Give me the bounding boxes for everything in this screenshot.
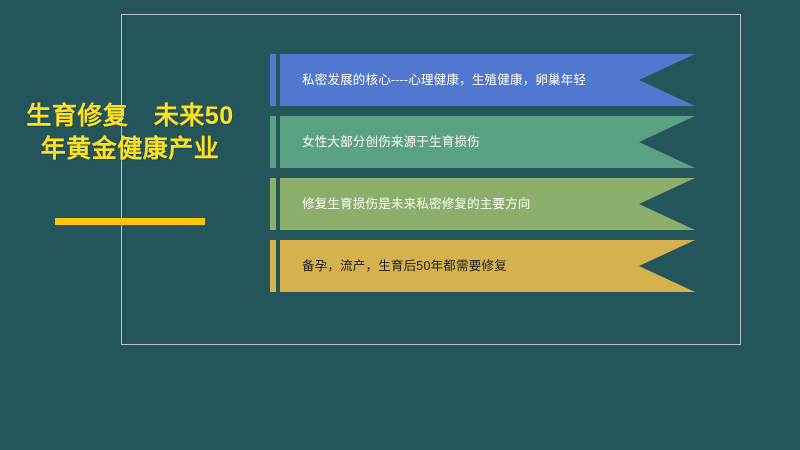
banner-body: 女性大部分创伤来源于生育损伤 [280, 116, 695, 168]
banner-body: 私密发展的核心----心理健康，生殖健康，卵巢年轻 [280, 54, 695, 106]
banner-label: 私密发展的核心----心理健康，生殖健康，卵巢年轻 [280, 72, 656, 88]
title-underline-rule [55, 218, 205, 225]
banner-list: 私密发展的核心----心理健康，生殖健康，卵巢年轻 女性大部分创伤来源于生育损伤… [270, 54, 695, 302]
banner-body: 备孕，流产，生育后50年都需要修复 [280, 240, 695, 292]
banner-label: 备孕，流产，生育后50年都需要修复 [280, 258, 577, 274]
banner-item[interactable]: 私密发展的核心----心理健康，生殖健康，卵巢年轻 [270, 54, 695, 106]
banner-spacer [276, 54, 280, 106]
banner-spacer [276, 178, 280, 230]
banner-label: 女性大部分创伤来源于生育损伤 [280, 134, 550, 150]
page-title: 生育修复 未来50年黄金健康产业 [20, 100, 240, 166]
banner-label: 修复生育损伤是未来私密修复的主要方向 [280, 196, 601, 212]
banner-body: 修复生育损伤是未来私密修复的主要方向 [280, 178, 695, 230]
banner-item[interactable]: 备孕，流产，生育后50年都需要修复 [270, 240, 695, 292]
banner-spacer [276, 240, 280, 292]
slide-canvas: 生育修复 未来50年黄金健康产业 私密发展的核心----心理健康，生殖健康，卵巢… [0, 0, 800, 450]
banner-item[interactable]: 女性大部分创伤来源于生育损伤 [270, 116, 695, 168]
title-block: 生育修复 未来50年黄金健康产业 [20, 100, 240, 166]
banner-item[interactable]: 修复生育损伤是未来私密修复的主要方向 [270, 178, 695, 230]
banner-spacer [276, 116, 280, 168]
